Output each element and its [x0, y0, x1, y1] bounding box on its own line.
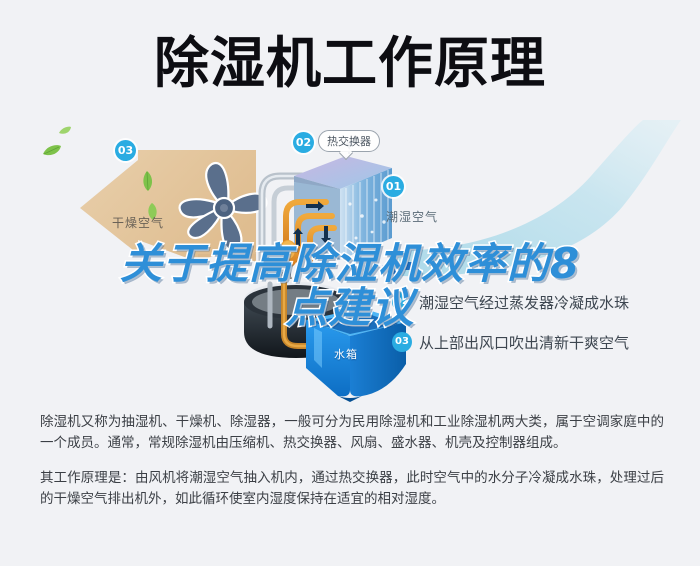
paragraph: 除湿机又称为抽湿机、干燥机、除湿器，一般可分为民用除湿机和工业除湿机两大类，属于…: [40, 412, 664, 454]
process-step-list: 02 潮湿空气经过蒸发器冷凝成水珠 03 从上部出风口吹出清新干爽空气: [392, 290, 692, 370]
badge-02: 02: [293, 132, 314, 153]
leaf-icon: [58, 126, 72, 136]
dehumidifier-diagram: 01 02 03 热交换器 干燥空气 潮湿空气 压缩机 水箱 02 潮湿空气经过…: [0, 118, 700, 406]
heat-exchanger-callout: 热交换器: [318, 130, 380, 152]
paragraph: 其工作原理是：由风机将潮湿空气抽入机内，通过热交换器，此时空气中的水分子冷凝成水…: [40, 468, 664, 510]
badge-03: 03: [115, 140, 136, 161]
compressor-label: 压缩机: [268, 270, 292, 281]
dry-air-label: 干燥空气: [112, 214, 164, 231]
bullet-number: 02: [392, 292, 412, 312]
moist-air-swoosh-icon: [395, 118, 685, 288]
badge-01: 01: [383, 176, 404, 197]
bullet-number: 03: [392, 332, 412, 352]
bullet-label: 潮湿空气经过蒸发器冷凝成水珠: [419, 292, 629, 313]
leaf-icon: [140, 170, 155, 192]
page-title: 除湿机工作原理: [0, 26, 700, 104]
page-title-text: 除湿机工作原理: [154, 26, 546, 100]
water-tank-label: 水箱: [334, 346, 358, 362]
list-item: 02 潮湿空气经过蒸发器冷凝成水珠: [392, 290, 692, 314]
infographic-page: 除湿机工作原理: [0, 0, 700, 566]
list-item: 03 从上部出风口吹出清新干爽空气: [392, 330, 692, 354]
moist-air-label: 潮湿空气: [386, 208, 438, 225]
article-body: 除湿机又称为抽湿机、干燥机、除湿器，一般可分为民用除湿机和工业除湿机两大类，属于…: [40, 412, 664, 510]
bullet-label: 从上部出风口吹出清新干爽空气: [419, 332, 629, 353]
leaf-icon: [42, 144, 62, 158]
